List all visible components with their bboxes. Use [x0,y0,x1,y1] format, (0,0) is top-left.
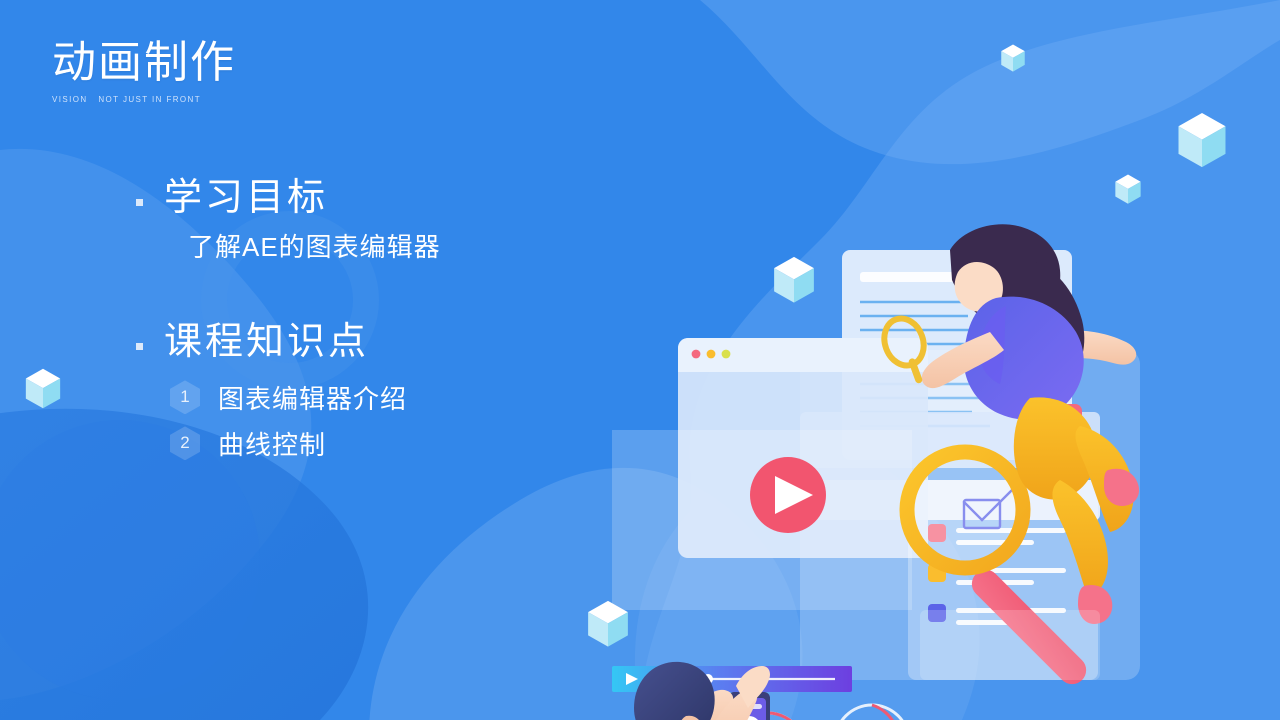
video-play-button [750,457,826,533]
numbered-list: 1图表编辑器介绍2曲线控制 [170,379,407,462]
section-description: 了解AE的图表编辑器 [188,227,441,264]
square-bullet-icon [136,343,143,350]
section-header: 课程知识点 [136,320,407,365]
list-item-number: 1 [170,380,200,414]
cube-icon [24,368,62,410]
square-bullet-icon [136,199,143,206]
list-item-number: 2 [170,426,200,460]
list-item[interactable]: 2曲线控制 [170,425,407,462]
list-item[interactable]: 1图表编辑器介绍 [170,379,407,416]
traffic-light-red [692,350,701,359]
list-item-label: 图表编辑器介绍 [218,379,407,416]
page-subtitle: VISION NOT JUST IN FRONT [52,95,236,104]
section-title: 课程知识点 [164,320,369,365]
section-header: 学习目标 [136,176,441,221]
section-title: 学习目标 [164,176,328,221]
bottom-accent-card [920,610,1100,680]
page-title: 动画制作 [52,38,236,89]
section-course-knowledge: 课程知识点 1图表编辑器介绍2曲线控制 [136,320,407,471]
progress-ring-right [835,705,909,720]
illustration-artwork [560,180,1280,720]
cube-icon [1176,112,1228,169]
cube-icon [1000,44,1026,73]
traffic-light-green [722,350,731,359]
hexagon-badge: 1 [170,380,200,414]
slide-canvas: 动画制作 VISION NOT JUST IN FRONT 学习目标 了解AE的… [0,0,1280,720]
brand-block: 动画制作 VISION NOT JUST IN FRONT [52,38,236,104]
traffic-light-yellow [707,350,716,359]
section-learning-goal: 学习目标 了解AE的图表编辑器 [136,176,441,264]
hexagon-badge: 2 [170,426,200,460]
list-item-label: 曲线控制 [218,425,326,462]
